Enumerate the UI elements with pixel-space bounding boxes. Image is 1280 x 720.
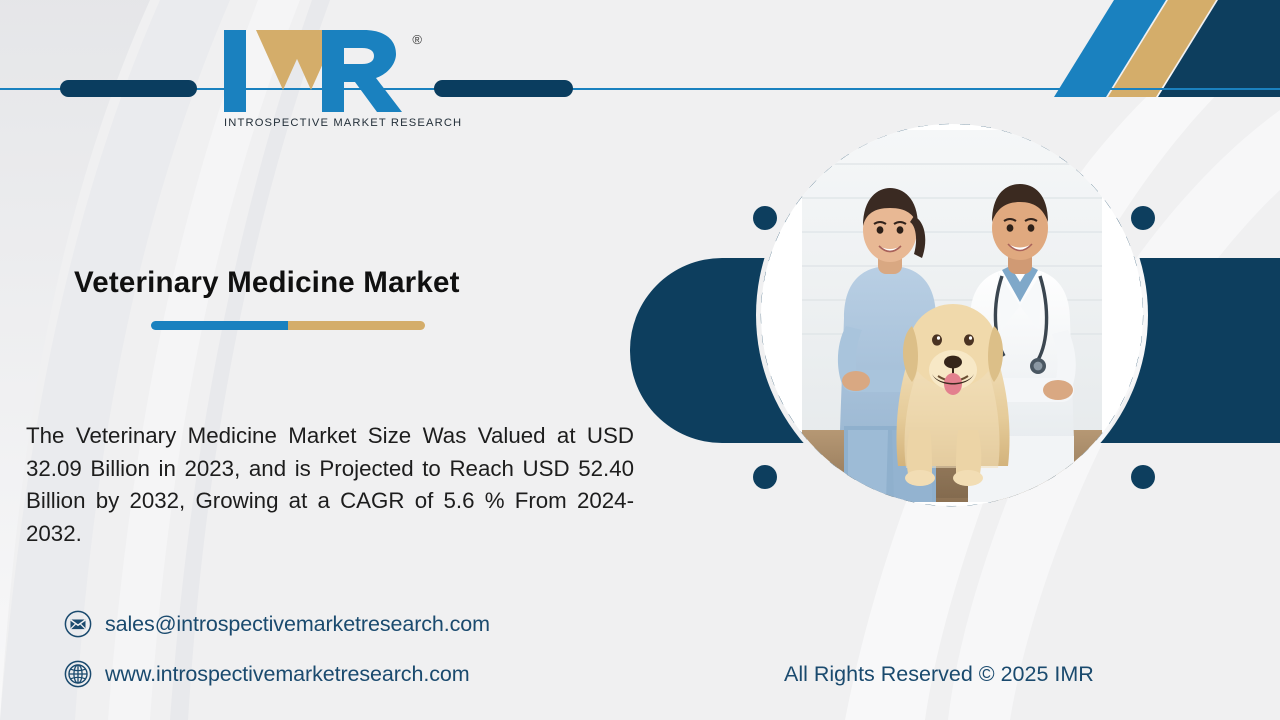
header-bar-right — [434, 80, 573, 97]
veterinary-photo-illustration — [802, 130, 1102, 502]
accent-dot-bottom-left — [753, 465, 777, 489]
photo-circle-frame — [761, 124, 1143, 506]
globe-icon — [64, 660, 92, 688]
accent-dot-top-right — [1131, 206, 1155, 230]
contact-email-row[interactable]: sales@introspectivemarketresearch.com — [64, 610, 490, 638]
logo-letter-r — [322, 30, 402, 112]
email-address[interactable]: sales@introspectivemarketresearch.com — [105, 612, 490, 637]
envelope-icon — [64, 610, 92, 638]
title-divider-tan — [288, 321, 425, 330]
page-title: Veterinary Medicine Market — [74, 266, 460, 300]
logo-letter-i — [224, 30, 246, 112]
veterinary-photo — [802, 130, 1102, 502]
golden-retriever-dog — [896, 304, 1009, 486]
accent-dot-top-left — [753, 206, 777, 230]
imr-logo-mark — [222, 28, 402, 112]
header-bar-left — [60, 80, 197, 97]
title-divider — [151, 321, 425, 330]
contact-website-row[interactable]: www.introspectivemarketresearch.com — [64, 660, 470, 688]
hero-visual — [620, 100, 1280, 600]
market-description: The Veterinary Medicine Market Size Was … — [26, 420, 634, 583]
imr-logo[interactable]: ® INTROSPECTIVE MARKET RESEARCH — [222, 28, 422, 138]
infographic-canvas: ® INTROSPECTIVE MARKET RESEARCH Veterina… — [0, 0, 1280, 720]
title-divider-blue — [151, 321, 288, 330]
accent-dot-bottom-right — [1131, 465, 1155, 489]
website-url[interactable]: www.introspectivemarketresearch.com — [105, 662, 470, 687]
copyright-text: All Rights Reserved © 2025 IMR — [784, 662, 1094, 687]
registered-trademark-icon: ® — [412, 32, 422, 47]
logo-subtitle: INTROSPECTIVE MARKET RESEARCH — [224, 117, 420, 129]
